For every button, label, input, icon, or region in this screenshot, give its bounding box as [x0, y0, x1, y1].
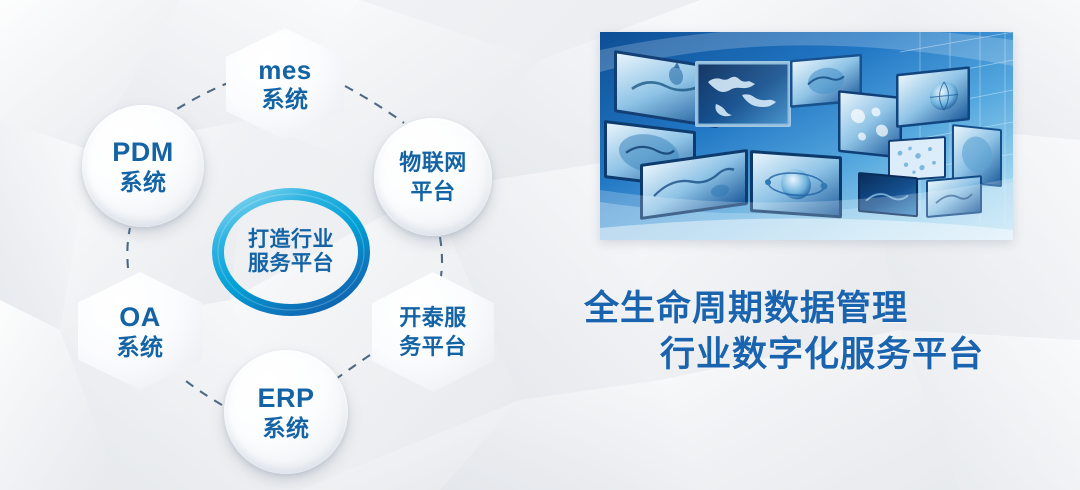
node-oa-label-line1: OA: [119, 303, 161, 332]
node-pdm[interactable]: PDM 系统: [82, 105, 204, 227]
node-iot-label-line2: 平台: [410, 180, 455, 203]
headline: 全生命周期数据管理 行业数字化服务平台: [560, 286, 1060, 377]
node-erp-label-line1: ERP: [257, 384, 314, 413]
node-erp[interactable]: ERP 系统: [224, 350, 348, 474]
center-hub-label: 打造行业 服务平台: [248, 228, 334, 276]
node-pdm-label-line2: 系统: [120, 170, 167, 194]
node-mes-label-line1: mes: [258, 57, 312, 85]
node-kaitai-label-line2: 务平台: [399, 335, 467, 358]
node-iot-platform[interactable]: 物联网 平台: [374, 118, 492, 236]
node-kaitai-label-line1: 开泰服: [399, 306, 467, 329]
node-pdm-label-line1: PDM: [112, 138, 174, 167]
headline-line1: 全生命周期数据管理: [560, 286, 1060, 332]
center-hub[interactable]: 打造行业 服务平台: [205, 186, 377, 318]
poster-canvas: mes 系统 PDM 系统 物联网 平台 OA 系统 开泰服 务平台 ERP 系…: [0, 0, 1080, 490]
node-mes-label-line2: 系统: [262, 87, 309, 111]
platform-network-diagram: mes 系统 PDM 系统 物联网 平台 OA 系统 开泰服 务平台 ERP 系…: [0, 0, 560, 490]
node-erp-label-line2: 系统: [263, 416, 310, 440]
node-iot-label-line1: 物联网: [399, 151, 467, 174]
headline-line2: 行业数字化服务平台: [560, 332, 1060, 378]
tech-screens-photo: [600, 32, 1013, 240]
center-hub-label-line2: 服务平台: [248, 252, 334, 276]
center-hub-label-line1: 打造行业: [248, 228, 334, 252]
node-oa-label-line2: 系统: [117, 335, 164, 359]
